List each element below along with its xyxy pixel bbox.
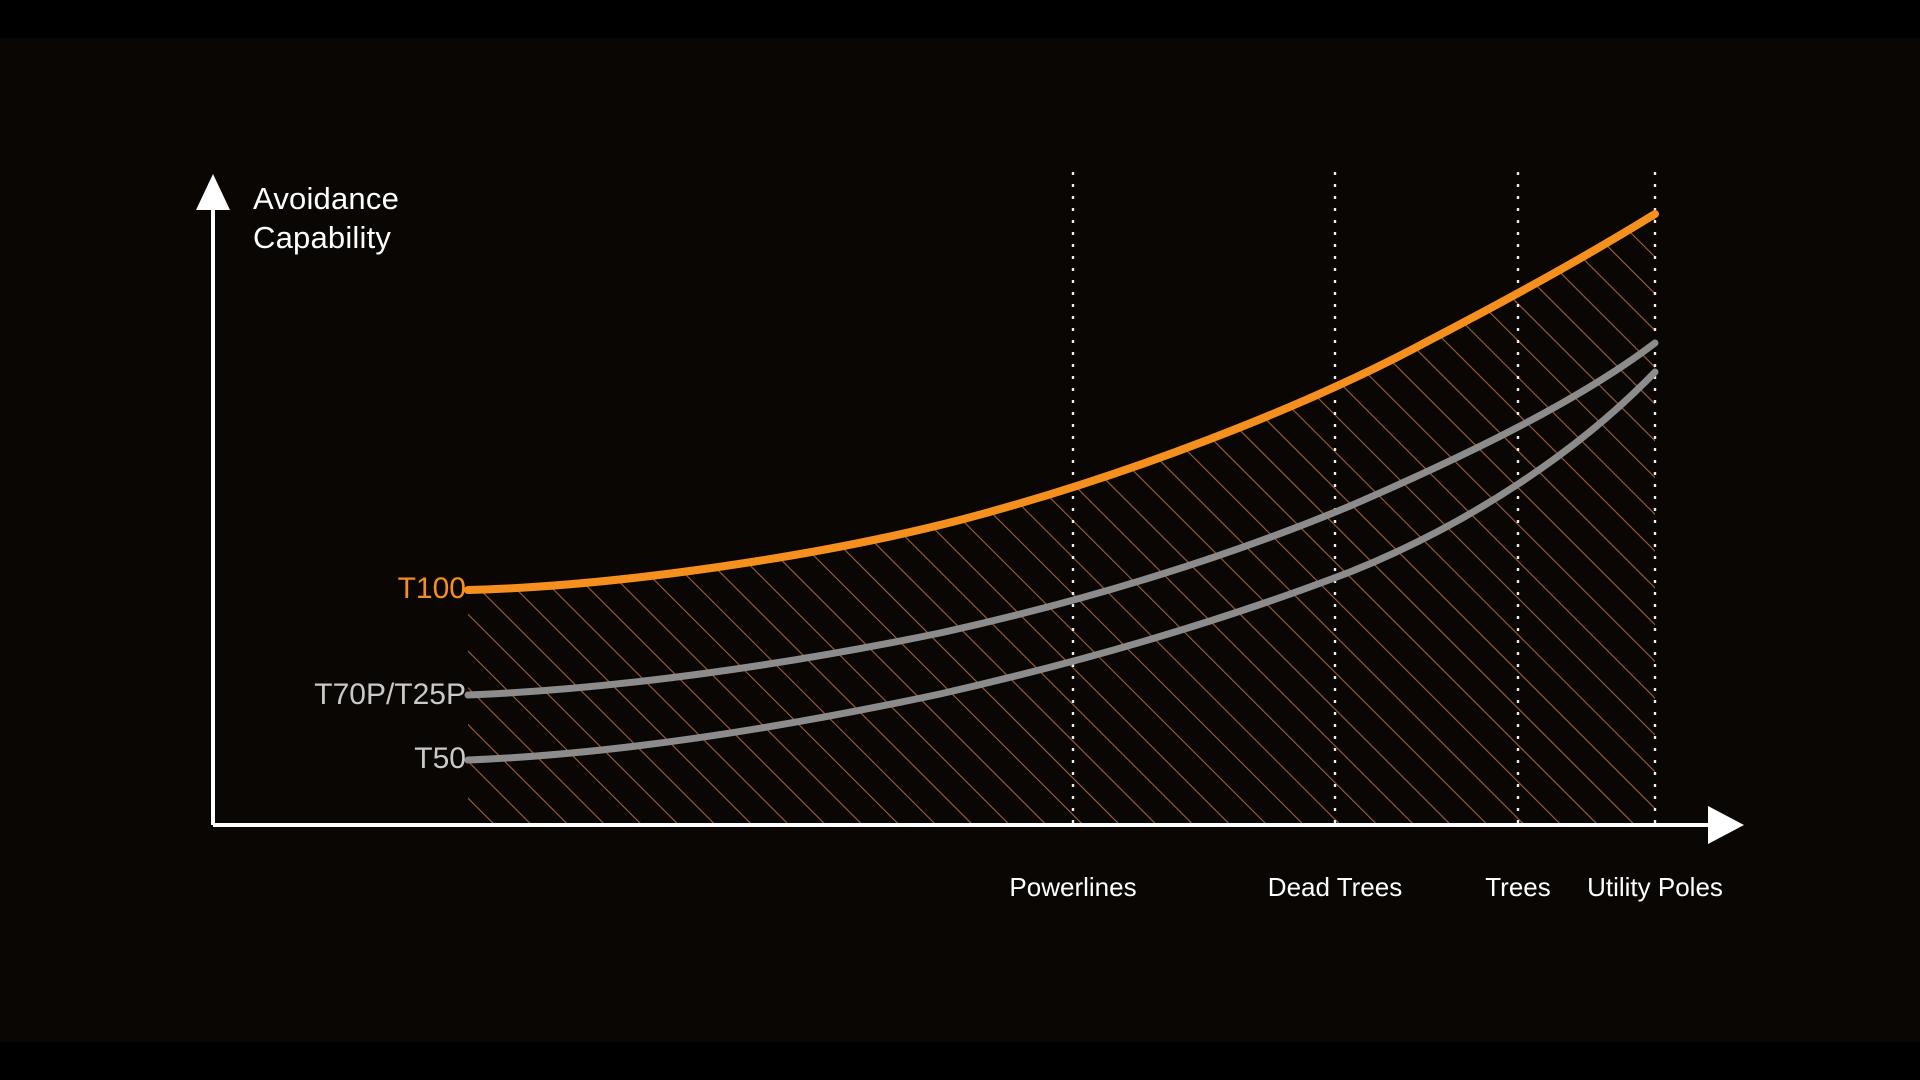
chart-graphics bbox=[0, 0, 1920, 1080]
series-label-t100: T100 bbox=[398, 572, 466, 606]
hatched-region bbox=[460, 200, 1670, 830]
x-label-dead-trees: Dead Trees bbox=[1268, 872, 1402, 903]
x-label-powerlines: Powerlines bbox=[1009, 872, 1136, 903]
series-label-t70p-t25p: T70P/T25P bbox=[314, 678, 466, 712]
x-label-trees: Trees bbox=[1485, 872, 1551, 903]
y-axis-title-line1: Avoidance bbox=[253, 181, 399, 216]
y-axis-title: AvoidanceCapability bbox=[253, 179, 399, 257]
y-axis-title-line2: Capability bbox=[253, 220, 391, 255]
series-label-t50: T50 bbox=[414, 742, 466, 776]
x-axis-arrow-icon bbox=[1708, 806, 1744, 844]
y-axis-arrow-icon bbox=[196, 174, 230, 210]
chart-canvas: AvoidanceCapability T100 T70P/T25P T50 P… bbox=[0, 0, 1920, 1080]
x-label-utility-poles: Utility Poles bbox=[1587, 872, 1723, 903]
